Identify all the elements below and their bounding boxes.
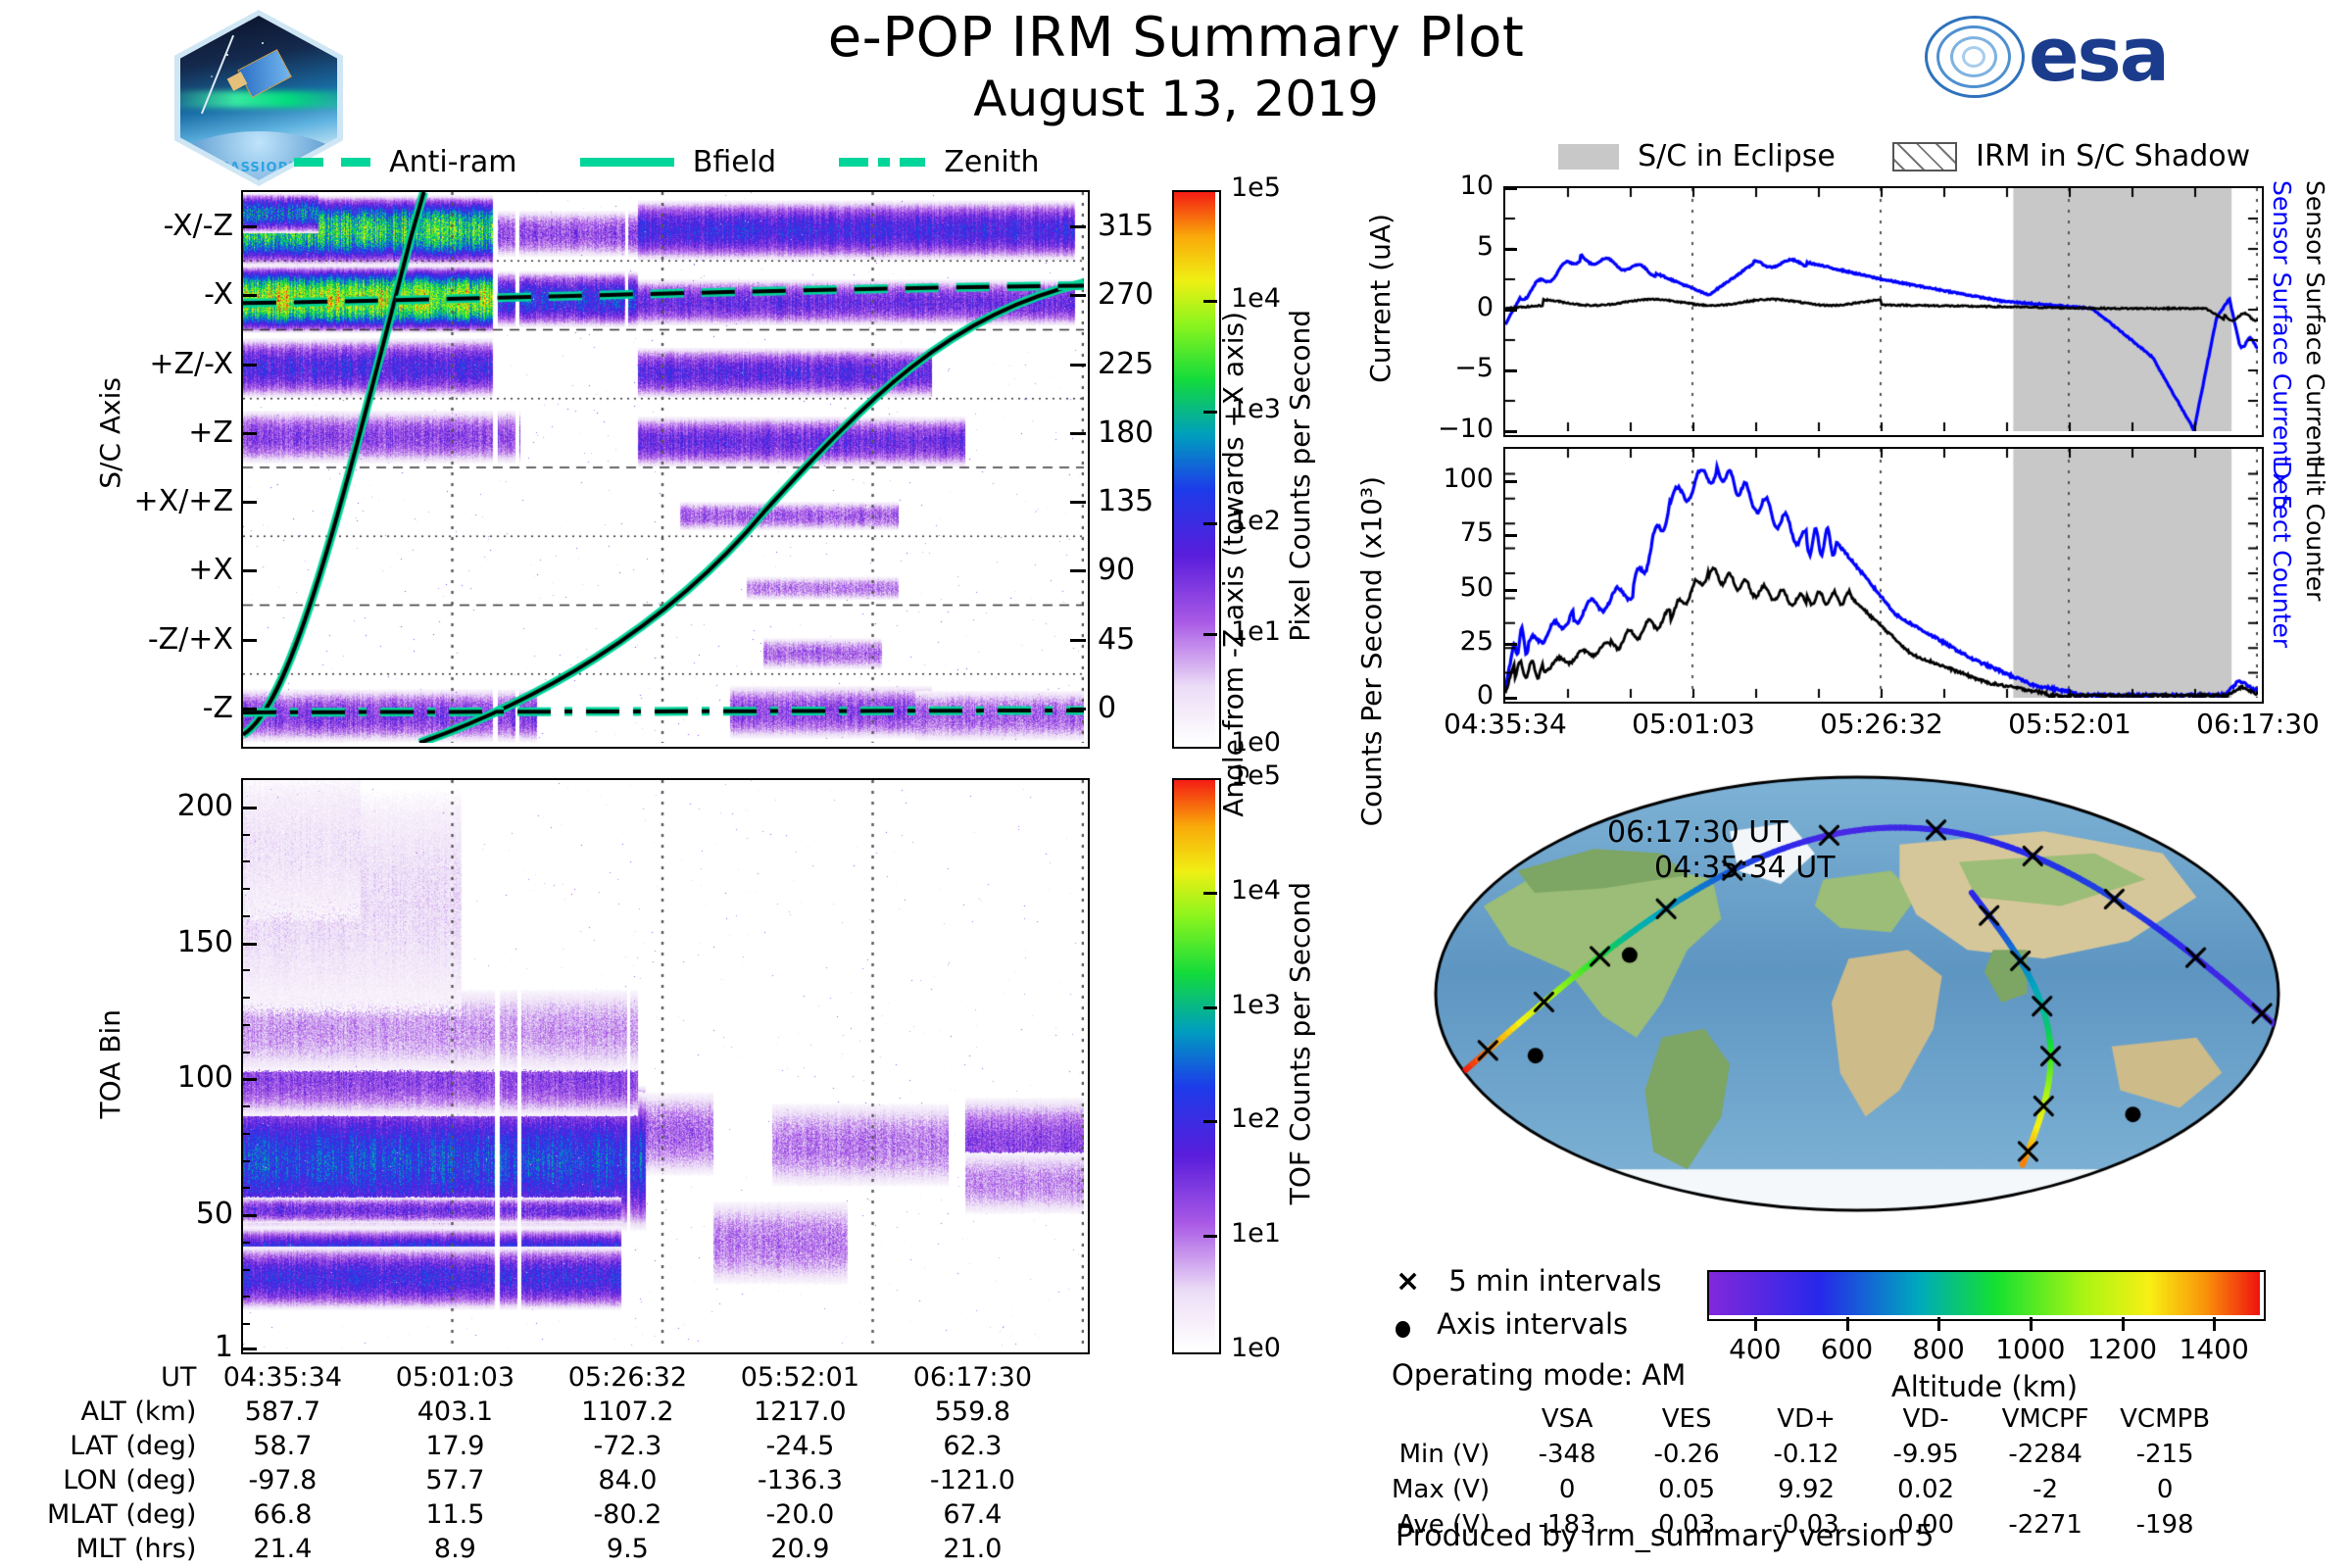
legend-label-zenith: Zenith [944, 145, 1039, 179]
voltage-column-header: VD+ [1746, 1401, 1866, 1437]
toa-bin-spectrogram[interactable] [241, 778, 1090, 1354]
ephemeris-cell: 04:35:34 [196, 1360, 368, 1395]
tof-counts-colorbar [1172, 778, 1221, 1354]
sensor-surface-current-label: Sensor Surface Current [2301, 180, 2329, 465]
ephemeris-cell: 11.5 [368, 1497, 541, 1532]
voltage-column-header: VES [1627, 1401, 1746, 1437]
ephemeris-cell: 587.7 [196, 1395, 368, 1429]
voltage-cell: -2271 [1985, 1507, 2105, 1543]
voltage-cell: -2284 [1985, 1437, 2105, 1472]
map-legend-label-5min: 5 min intervals [1448, 1264, 1661, 1298]
legend-label-sc-eclipse: S/C in Eclipse [1638, 139, 1836, 173]
tof-counts-colorbar-label: TOF Counts per Second [1284, 882, 1316, 1204]
ephemeris-cell: 20.9 [713, 1532, 886, 1566]
ephemeris-cell: 05:52:01 [713, 1360, 886, 1395]
footer-text: Produced by irm_summary version 5 [1396, 1519, 1934, 1553]
pixel-counts-colorbar-label: Pixel Counts per Second [1284, 310, 1316, 642]
ephemeris-cell: 05:01:03 [368, 1360, 541, 1395]
map-annotation-end: 04:35:34 UT [1654, 851, 1836, 885]
ephemeris-row-header: MLT (hrs) [47, 1532, 196, 1566]
ephemeris-cell: 58.7 [196, 1429, 368, 1463]
ephemeris-table: UT04:35:3405:01:0305:26:3205:52:0106:17:… [47, 1360, 1058, 1566]
esa-wordmark: esa [2029, 18, 2168, 92]
detect-counter-label: Detect Counter [2268, 461, 2296, 648]
voltage-cell: 0 [1507, 1472, 1627, 1507]
legend-label-anti-ram: Anti-ram [389, 145, 516, 179]
voltage-cell: -198 [2105, 1507, 2225, 1543]
voltage-cell: 9.92 [1746, 1472, 1866, 1507]
anti-ram-line-swatch [294, 158, 370, 167]
voltage-header-row: VSAVESVD+VD-VMCPFVCMPB [1392, 1401, 2225, 1437]
voltage-corner-cell [1392, 1401, 1507, 1437]
sc-axis-ylabel: S/C Axis [94, 377, 126, 489]
ephemeris-row-header: UT [47, 1360, 196, 1395]
voltage-cell: 0.02 [1866, 1472, 1985, 1507]
toa-bin-ylabel: TOA Bin [94, 1009, 126, 1118]
table-row: Max (V)00.059.920.02-20 [1392, 1472, 2225, 1507]
current-ylabel: Current (uA) [1364, 214, 1396, 383]
voltage-cell: 0.05 [1627, 1472, 1746, 1507]
map-legend-label-axis: Axis intervals [1437, 1307, 1628, 1341]
ephemeris-cell: 8.9 [368, 1532, 541, 1566]
ephemeris-cell: -72.3 [541, 1429, 713, 1463]
operating-mode: Operating mode: AM [1392, 1358, 1686, 1392]
hit-counter-label: Hit Counter [2301, 461, 2329, 601]
bfield-line-swatch [580, 158, 674, 167]
ephemeris-cell: -97.8 [196, 1463, 368, 1497]
voltage-cell: -0.26 [1627, 1437, 1746, 1472]
ephemeris-cell: 57.7 [368, 1463, 541, 1497]
ephemeris-cell: 62.3 [886, 1429, 1058, 1463]
sc-axis-spectrogram[interactable] [241, 190, 1090, 749]
x-marker-icon: × [1396, 1264, 1420, 1298]
dot-marker-icon [1396, 1321, 1410, 1338]
ephemeris-cell: 67.4 [886, 1497, 1058, 1532]
table-row: ALT (km)587.7403.11107.21217.0559.8 [47, 1395, 1058, 1429]
zenith-line-swatch [839, 158, 925, 167]
counts-plot[interactable] [1503, 447, 2264, 704]
ephemeris-cell: 66.8 [196, 1497, 368, 1532]
ephemeris-row-header: ALT (km) [47, 1395, 196, 1429]
ephemeris-cell: -121.0 [886, 1463, 1058, 1497]
esa-logo: esa [1921, 10, 2168, 100]
map-legend-axis: Axis intervals [1396, 1307, 1628, 1341]
sc-eclipse-swatch [1558, 144, 1619, 170]
ephemeris-cell: -80.2 [541, 1497, 713, 1532]
voltage-column-header: VCMPB [2105, 1401, 2225, 1437]
ephemeris-cell: 05:26:32 [541, 1360, 713, 1395]
ephemeris-cell: 17.9 [368, 1429, 541, 1463]
voltage-row-header: Max (V) [1392, 1472, 1507, 1507]
ephemeris-cell: -20.0 [713, 1497, 886, 1532]
voltage-column-header: VSA [1507, 1401, 1627, 1437]
voltage-cell: -2 [1985, 1472, 2105, 1507]
ephemeris-cell: -136.3 [713, 1463, 886, 1497]
ephemeris-cell: 9.5 [541, 1532, 713, 1566]
legend-label-irm-shadow: IRM in S/C Shadow [1976, 139, 2250, 173]
voltage-column-header: VMCPF [1985, 1401, 2105, 1437]
altitude-colorbar-label: Altitude (km) [1707, 1370, 2262, 1403]
table-row: MLAT (deg)66.811.5-80.2-20.067.4 [47, 1497, 1058, 1532]
table-row: LON (deg)-97.857.784.0-136.3-121.0 [47, 1463, 1058, 1497]
ephemeris-cell: -24.5 [713, 1429, 886, 1463]
ephemeris-row-header: MLAT (deg) [47, 1497, 196, 1532]
ephemeris-cell: 84.0 [541, 1463, 713, 1497]
esa-rings-icon [1921, 10, 2029, 100]
counts-ylabel: Counts Per Second (x10³) [1354, 476, 1390, 826]
table-row: MLT (hrs)21.48.99.520.921.0 [47, 1532, 1058, 1566]
ground-track-map[interactable] [1433, 774, 2281, 1213]
map-annotation-start: 06:17:30 UT [1607, 815, 1788, 850]
altitude-colorbar [1707, 1270, 2266, 1321]
ephemeris-cell: 21.0 [886, 1532, 1058, 1566]
voltage-cell: -0.12 [1746, 1437, 1866, 1472]
table-row: LAT (deg)58.717.9-72.3-24.562.3 [47, 1429, 1058, 1463]
table-row: UT04:35:3405:01:0305:26:3205:52:0106:17:… [47, 1360, 1058, 1395]
table-row: Min (V)-348-0.26-0.12-9.95-2284-215 [1392, 1437, 2225, 1472]
ephemeris-cell: 1107.2 [541, 1395, 713, 1429]
current-plot[interactable] [1503, 186, 2264, 437]
spectrogram-legend: Anti-ram Bfield Zenith [294, 145, 1040, 179]
ephemeris-cell: 06:17:30 [886, 1360, 1058, 1395]
ephemeris-cell: 21.4 [196, 1532, 368, 1566]
voltage-cell: -215 [2105, 1437, 2225, 1472]
irm-shadow-swatch [1892, 142, 1957, 171]
voltage-cell: -348 [1507, 1437, 1627, 1472]
ephemeris-row-header: LON (deg) [47, 1463, 196, 1497]
pixel-counts-colorbar [1172, 190, 1221, 749]
ephemeris-cell: 1217.0 [713, 1395, 886, 1429]
ephemeris-row-header: LAT (deg) [47, 1429, 196, 1463]
voltage-cell: 0 [2105, 1472, 2225, 1507]
eclipse-legend: S/C in Eclipse IRM in S/C Shadow [1558, 139, 2250, 173]
voltage-cell: -9.95 [1866, 1437, 1985, 1472]
voltage-row-header: Min (V) [1392, 1437, 1507, 1472]
ephemeris-cell: 403.1 [368, 1395, 541, 1429]
legend-label-bfield: Bfield [693, 145, 776, 179]
voltage-column-header: VD- [1866, 1401, 1985, 1437]
map-legend-5min: × 5 min intervals [1396, 1264, 1661, 1298]
ephemeris-cell: 559.8 [886, 1395, 1058, 1429]
